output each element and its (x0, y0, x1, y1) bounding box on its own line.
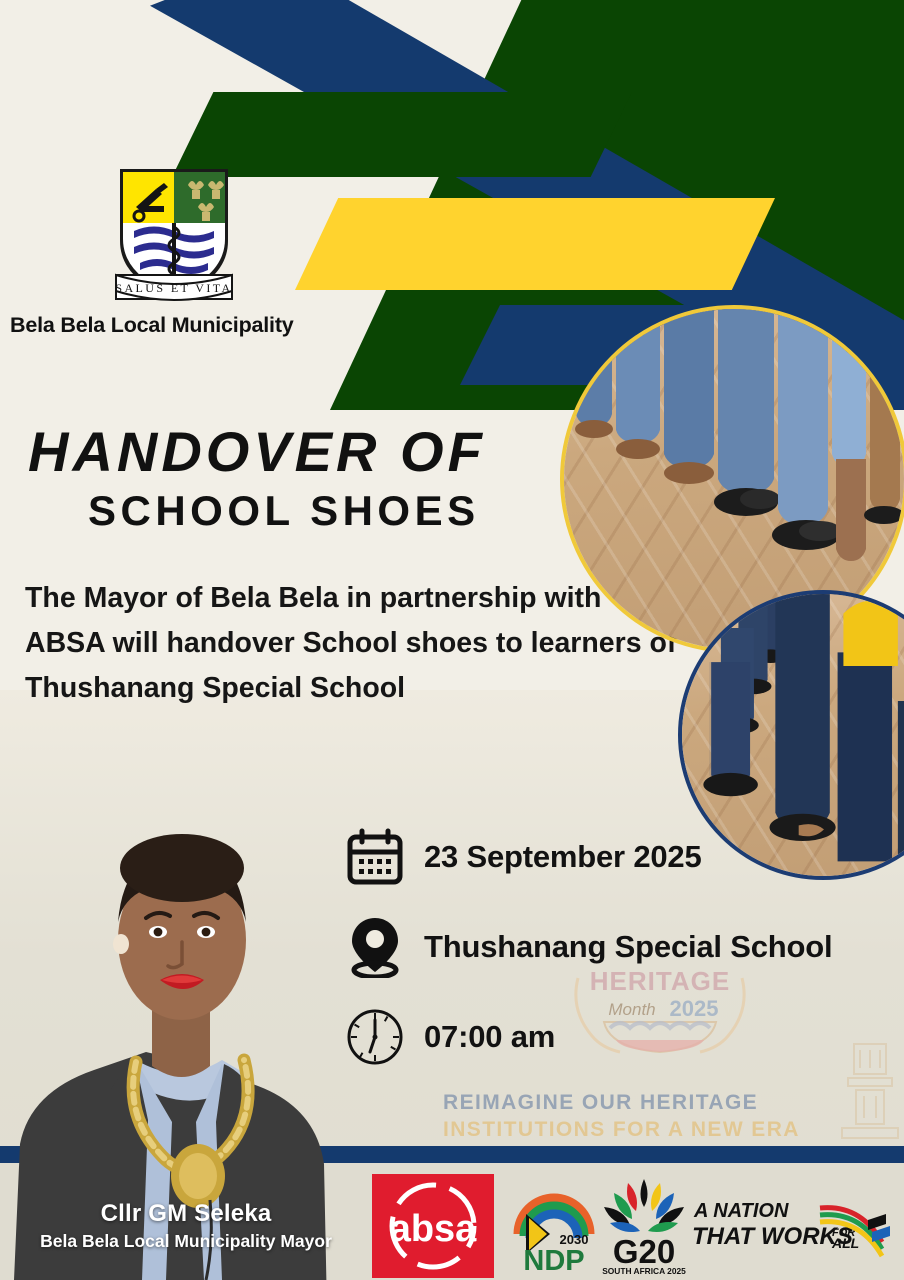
absa-logo: absa (372, 1174, 494, 1278)
municipality-name: Bela Bela Local Municipality (10, 313, 294, 338)
nation-works-logo: A NATION THAT WORKS FOR ALL (692, 1192, 898, 1258)
heritage-sub: Month (608, 1000, 655, 1019)
heritage-tagline: REIMAGINE OUR HERITAGE INSTITUTIONS FOR … (443, 1090, 863, 1144)
absa-wordmark: absa (390, 1208, 477, 1250)
ndp-wordmark: NDP (523, 1245, 584, 1274)
g20-subtitle: SOUTH AFRICA 2025 (602, 1266, 686, 1276)
nation-line-1: A NATION (693, 1200, 789, 1222)
g20-wordmark: G20 (613, 1233, 675, 1270)
mayor-caption: Cllr GM Seleka Bela Bela Local Municipal… (0, 1200, 372, 1252)
heritage-month-logo: HERITAGE Month 2025 (560, 960, 760, 1060)
headline-line-1: HANDOVER OF (28, 419, 486, 484)
nation-line-2: THAT WORKS (692, 1223, 853, 1250)
municipality-crest-icon: SALUS ET VITA (112, 163, 236, 308)
heritage-year: 2025 (670, 996, 719, 1021)
mayor-title: Bela Bela Local Municipality Mayor (0, 1231, 372, 1252)
mayor-name: Cllr GM Seleka (0, 1200, 372, 1228)
headline-line-2: SCHOOL SHOES (88, 487, 480, 535)
heritage-tagline-line-2: INSTITUTIONS FOR A NEW ERA (443, 1117, 863, 1144)
event-date: 23 September 2025 (424, 839, 702, 875)
crest-motto: SALUS ET VITA (115, 281, 232, 295)
green-parallelogram (172, 92, 632, 177)
heritage-tagline-line-1: REIMAGINE OUR HERITAGE (443, 1090, 863, 1117)
ndp-logo: 2030 NDP (512, 1186, 596, 1274)
detail-row-date: 23 September 2025 (346, 812, 832, 902)
heritage-word: HERITAGE (590, 966, 730, 996)
nation-line-4: ALL (831, 1235, 859, 1251)
poster: SALUS ET VITA Bela Bela Local Municipali… (0, 0, 904, 1280)
g20-logo: G20 SOUTH AFRICA 2025 (598, 1175, 690, 1277)
yellow-parallelogram (295, 198, 775, 290)
event-time: 07:00 am (424, 1019, 555, 1055)
